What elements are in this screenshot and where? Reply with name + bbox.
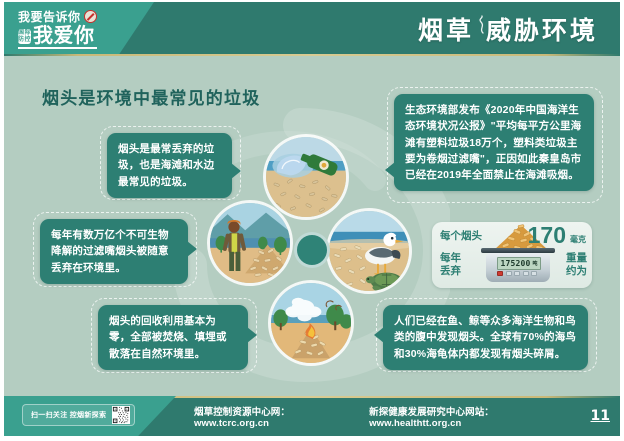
per-butt-row: 每个烟头	[440, 228, 482, 243]
qr-scan-label: 扫一扫关注 控烟新探索	[31, 410, 106, 420]
campaign-logo: 我要告诉你 国际 防控 我爱你	[18, 10, 97, 49]
center-hub	[294, 232, 330, 268]
infographic-page: 我要告诉你 国际 防控 我爱你 烟草 威胁环境 烟头是环境中最常见的垃圾	[0, 0, 624, 441]
no-smoking-icon	[84, 10, 97, 23]
callout-mid-left-text: 每年有数万亿个不可生物降解的过滤嘴烟头被随意丢弃在环境里。	[51, 229, 169, 274]
smoke-wisp-icon	[474, 29, 486, 39]
callout-top-left: 烟头是最常丢弃的垃圾，也是海滩和水边最常见的垃圾。	[107, 133, 232, 198]
callout-tail	[374, 327, 384, 343]
seabird-turtle-photo	[326, 208, 412, 294]
footer-links: 烟草控制资源中心网：www.tcrc.org.cn 新探健康发展研究中心网站：w…	[194, 396, 610, 436]
callout-bottom-left-text: 烟头的回收利用基本为零，全部被焚烧、填埋或散落在自然环境里。	[109, 315, 227, 360]
scale-display: 175200 吨	[497, 257, 541, 270]
per-butt-value: 170	[528, 224, 566, 247]
qr-scan-block[interactable]: 扫一扫关注 控烟新探索	[22, 404, 135, 426]
scale-button-2	[514, 271, 520, 276]
callout-tail	[247, 327, 257, 343]
per-butt-unit: 毫克	[570, 234, 586, 245]
scale-display-unit: 吨	[533, 260, 538, 267]
callout-top-right-text: 生态环境部发布《2020年中国海洋生态环境状况公报》"平均每平方公里海滩有塑料垃…	[405, 104, 581, 181]
yearly-discard-label-l2: 丢弃	[440, 265, 461, 278]
yearly-discard-label: 每年 丢弃	[440, 252, 461, 278]
burning-pile-photo	[268, 280, 354, 366]
callout-top-right: 生态环境部发布《2020年中国海洋生态环境状况公报》"平均每平方公里海滩有塑料垃…	[394, 94, 594, 191]
logo-badge-bottom: 防控	[18, 37, 31, 43]
scale-button-1	[506, 271, 512, 276]
scale-button-4	[531, 271, 537, 276]
weighing-scale-icon: 175200 吨	[479, 248, 557, 286]
callout-tail	[187, 241, 197, 257]
logo-line-2: 国际 防控 我爱你	[18, 26, 97, 49]
page-title-part1: 烟草	[418, 11, 474, 47]
weight-about-label-l2: 约为	[566, 265, 587, 278]
page-header: 我要告诉你 国际 防控 我爱你 烟草 威胁环境	[4, 2, 620, 56]
logo-line-1-text: 我要告诉你	[18, 11, 81, 23]
cigarette-weight-panel: 每个烟头 170 毫克 每年 丢弃	[432, 222, 592, 288]
scale-button-3	[523, 271, 529, 276]
page-number: 11	[587, 408, 610, 424]
scale-display-value: 175200	[500, 259, 530, 268]
footer-link-healthtt[interactable]: 新探健康发展研究中心网站：www.healthtt.org.cn	[369, 404, 568, 429]
callout-bottom-right-text: 人们已经在鱼、鲸等众多海洋生物和鸟类的腹中发现烟头。全球有70%的海鸟和30%海…	[394, 315, 576, 360]
scale-button-power	[497, 271, 503, 276]
logo-badge: 国际 防控	[18, 29, 31, 44]
weight-about-label-l1: 重量	[566, 252, 587, 265]
qr-code-icon[interactable]	[112, 406, 130, 424]
page-title-part2: 威胁环境	[486, 11, 598, 47]
yearly-discard-label-l1: 每年	[440, 252, 461, 265]
header-gold-divider	[4, 54, 620, 56]
footer-link-tcrc[interactable]: 烟草控制资源中心网：www.tcrc.org.cn	[194, 404, 351, 429]
logo-line-2-text: 我爱你	[33, 26, 95, 46]
page-footer: 扫一扫关注 控烟新探索	[4, 396, 620, 436]
scale-buttons	[497, 271, 537, 276]
callout-mid-left: 每年有数万亿个不可生物降解的过滤嘴烟头被随意丢弃在环境里。	[40, 219, 188, 284]
worker-butt-pile-photo	[207, 200, 293, 286]
callout-bottom-left: 烟头的回收利用基本为零，全部被焚烧、填埋或散落在自然环境里。	[98, 305, 248, 370]
logo-line-1: 我要告诉你	[18, 10, 97, 23]
beach-litter-photo	[263, 134, 349, 220]
per-butt-label: 每个烟头	[440, 228, 482, 243]
scale-body: 175200 吨	[486, 253, 550, 282]
callout-top-left-text: 烟头是最常丢弃的垃圾，也是海滩和水边最常见的垃圾。	[118, 143, 214, 188]
weight-about-label: 重量 约为	[566, 252, 587, 278]
page-title: 烟草 威胁环境	[418, 11, 598, 47]
callout-tail	[385, 162, 395, 178]
callout-bottom-right: 人们已经在鱼、鲸等众多海洋生物和鸟类的腹中发现烟头。全球有70%的海鸟和30%海…	[383, 305, 588, 370]
callout-tail	[231, 163, 241, 179]
